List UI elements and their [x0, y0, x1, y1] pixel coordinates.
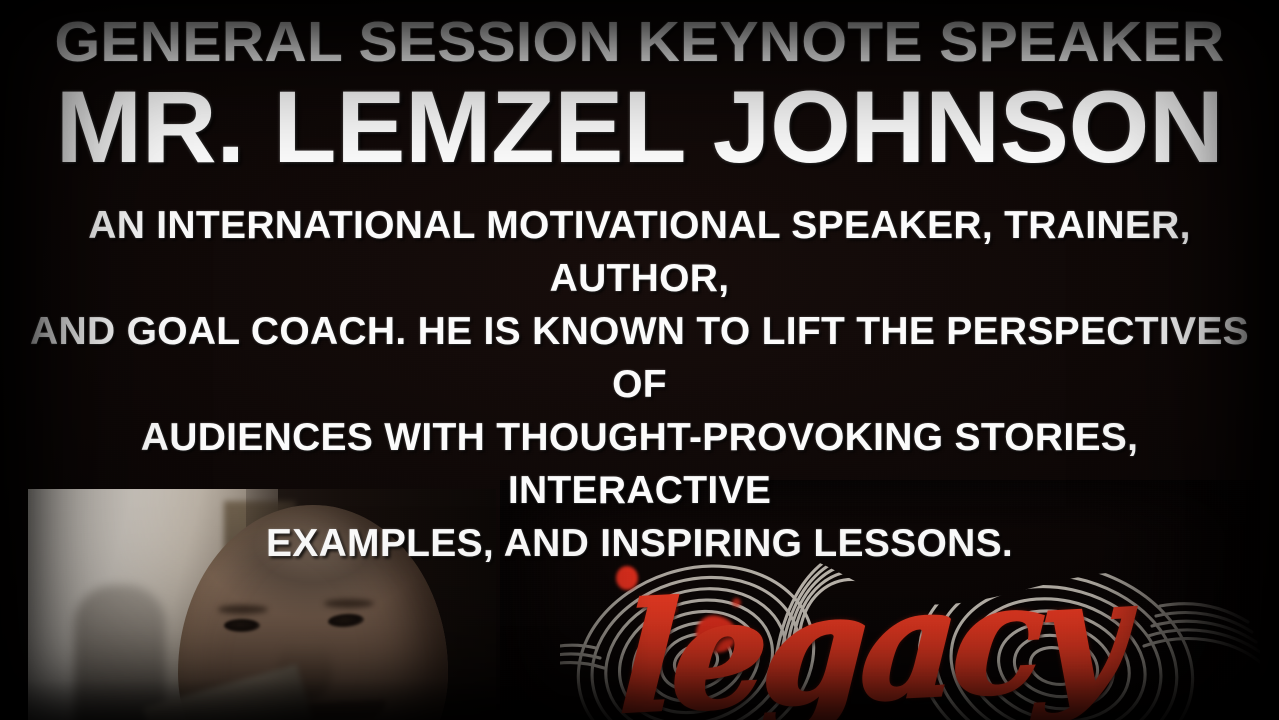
- photo-eyebrow-left: [218, 605, 268, 614]
- keynote-speaker-flyer: GENERAL SESSION KEYNOTE SPEAKER MR. LEMZ…: [0, 0, 1279, 720]
- speaker-bio: AN INTERNATIONAL MOTIVATIONAL SPEAKER, T…: [30, 177, 1250, 570]
- speaker-name-title: MR. LEMZEL JOHNSON: [1, 71, 1277, 177]
- photo-bottom-shadow: [28, 680, 496, 720]
- legacy-wordmark: legacy: [617, 559, 1124, 720]
- photo-eyebrow-right: [324, 599, 374, 608]
- session-eyebrow-label: GENERAL SESSION KEYNOTE SPEAKER: [0, 0, 1279, 71]
- bio-line: AND GOAL COACH. HE IS KNOWN TO LIFT THE …: [30, 305, 1250, 411]
- photo-eye-left: [224, 619, 260, 632]
- bio-line: AN INTERNATIONAL MOTIVATIONAL SPEAKER, T…: [30, 199, 1250, 305]
- bio-line: AUDIENCES WITH THOUGHT-PROVOKING STORIES…: [30, 411, 1250, 517]
- flyer-text-block: GENERAL SESSION KEYNOTE SPEAKER MR. LEMZ…: [0, 0, 1279, 570]
- bio-line: EXAMPLES, AND INSPIRING LESSONS.: [30, 517, 1250, 570]
